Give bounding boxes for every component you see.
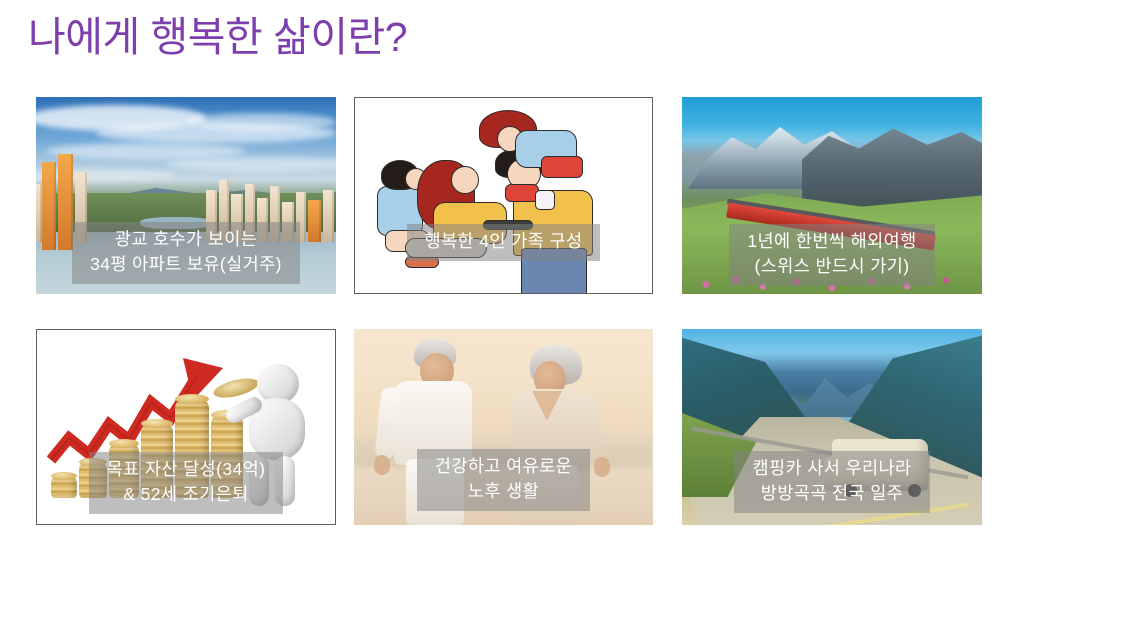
goal-tile-apartment[interactable]: 광교 호수가 보이는 34평 아파트 보유(실거주): [36, 97, 336, 294]
3d-figure: [239, 364, 317, 506]
goal-tile-assets[interactable]: 목표 자산 달성(34억) & 52세 조기은퇴: [36, 329, 336, 525]
apartment-photo: [36, 97, 336, 294]
coins-growth-illustration: [37, 330, 335, 524]
family-illustration: [355, 98, 652, 293]
camper-van-photo: [682, 329, 982, 525]
goal-tile-overseas-travel[interactable]: 1년에 한번씩 해외여행 (스위스 반드시 가기): [682, 97, 982, 294]
slide-canvas: 나에게 행복한 삶이란?: [0, 0, 1127, 634]
goal-tile-family[interactable]: 행복한 4인 가족 구성: [354, 97, 653, 294]
goal-tile-grid: 광교 호수가 보이는 34평 아파트 보유(실거주): [36, 97, 982, 525]
swiss-alps-photo: [682, 97, 982, 294]
goal-tile-camping-car[interactable]: 캠핑카 사서 우리나라 방방곡곡 전국 일주: [682, 329, 982, 525]
page-title: 나에게 행복한 삶이란?: [28, 8, 407, 66]
goal-tile-retirement-life[interactable]: 건강하고 여유로운 노후 생활: [354, 329, 653, 525]
senior-couple-photo: [354, 329, 653, 525]
